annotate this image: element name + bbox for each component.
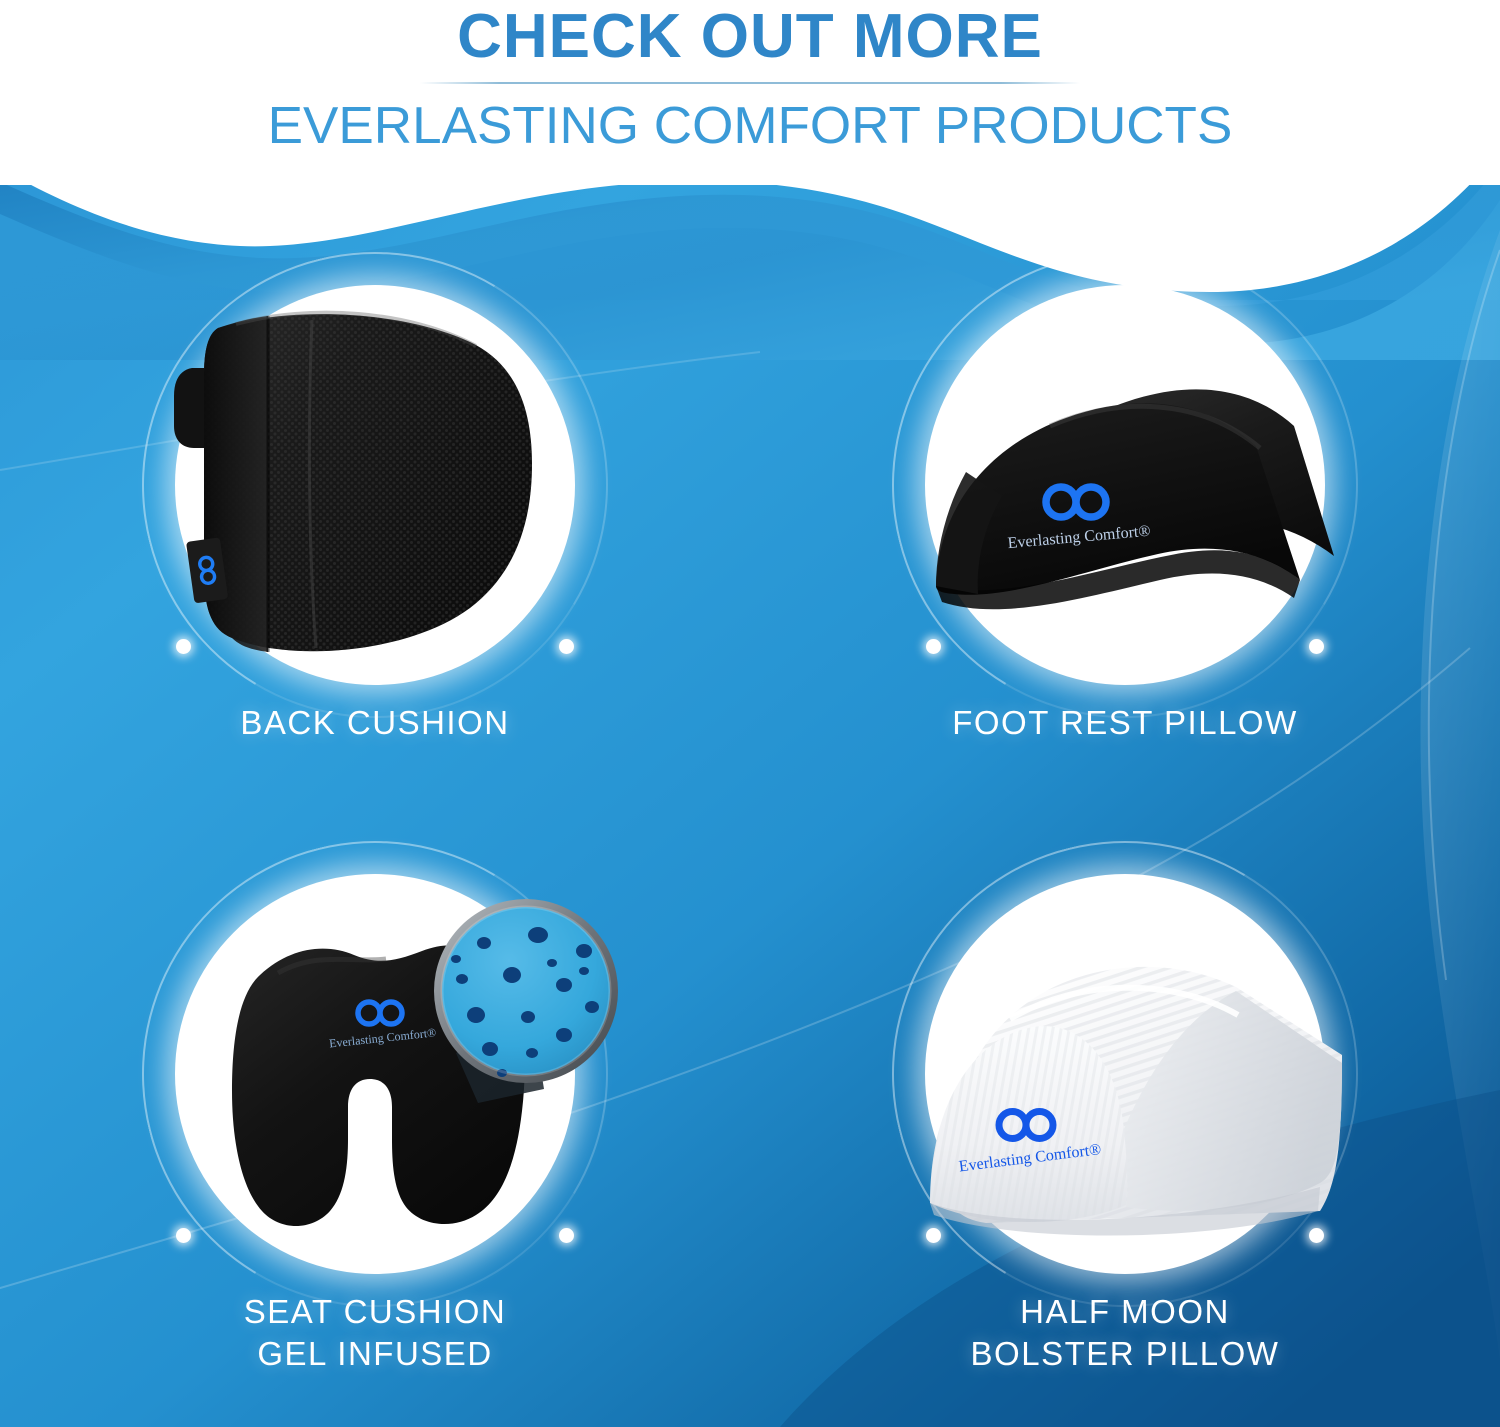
product-card-foot-rest-pillow[interactable]: Everlasting Comfort® FOOT REST PILLOW — [750, 250, 1500, 839]
product-caption: SEAT CUSHION GEL INFUSED — [0, 1291, 750, 1375]
seat-cushion-art: Everlasting Comfort® — [140, 839, 610, 1309]
product-disc: Everlasting Comfort® — [890, 839, 1360, 1309]
product-grid: BACK CUSHION — [0, 250, 1500, 1427]
product-card-half-moon-bolster-pillow[interactable]: Everlasting Comfort® HALF MOON BOLSTER P… — [750, 839, 1500, 1427]
foot-rest-wedge-art: Everlasting Comfort® — [890, 250, 1360, 720]
caption-line: FOOT REST PILLOW — [750, 702, 1500, 744]
gel-magnifier — [434, 899, 618, 1083]
product-caption: HALF MOON BOLSTER PILLOW — [750, 1291, 1500, 1375]
product-caption: BACK CUSHION — [0, 702, 750, 744]
page-subtitle: EVERLASTING COMFORT PRODUCTS — [0, 96, 1500, 156]
half-moon-bolster-art: Everlasting Comfort® — [890, 839, 1360, 1309]
product-caption: FOOT REST PILLOW — [750, 702, 1500, 744]
product-card-back-cushion[interactable]: BACK CUSHION — [0, 250, 750, 839]
back-cushion-art — [140, 250, 610, 720]
product-disc: Everlasting Comfort® — [890, 250, 1360, 720]
caption-line: HALF MOON — [750, 1291, 1500, 1333]
header: CHECK OUT MORE EVERLASTING COMFORT PRODU… — [0, 0, 1500, 185]
caption-line: BACK CUSHION — [0, 702, 750, 744]
title-divider — [420, 82, 1080, 84]
caption-line: GEL INFUSED — [0, 1333, 750, 1375]
product-disc — [140, 250, 610, 720]
caption-line: SEAT CUSHION — [0, 1291, 750, 1333]
caption-line: BOLSTER PILLOW — [750, 1333, 1500, 1375]
product-card-seat-cushion-gel-infused[interactable]: Everlasting Comfort® — [0, 839, 750, 1427]
product-disc: Everlasting Comfort® — [140, 839, 610, 1309]
page-title: CHECK OUT MORE — [0, 0, 1500, 68]
